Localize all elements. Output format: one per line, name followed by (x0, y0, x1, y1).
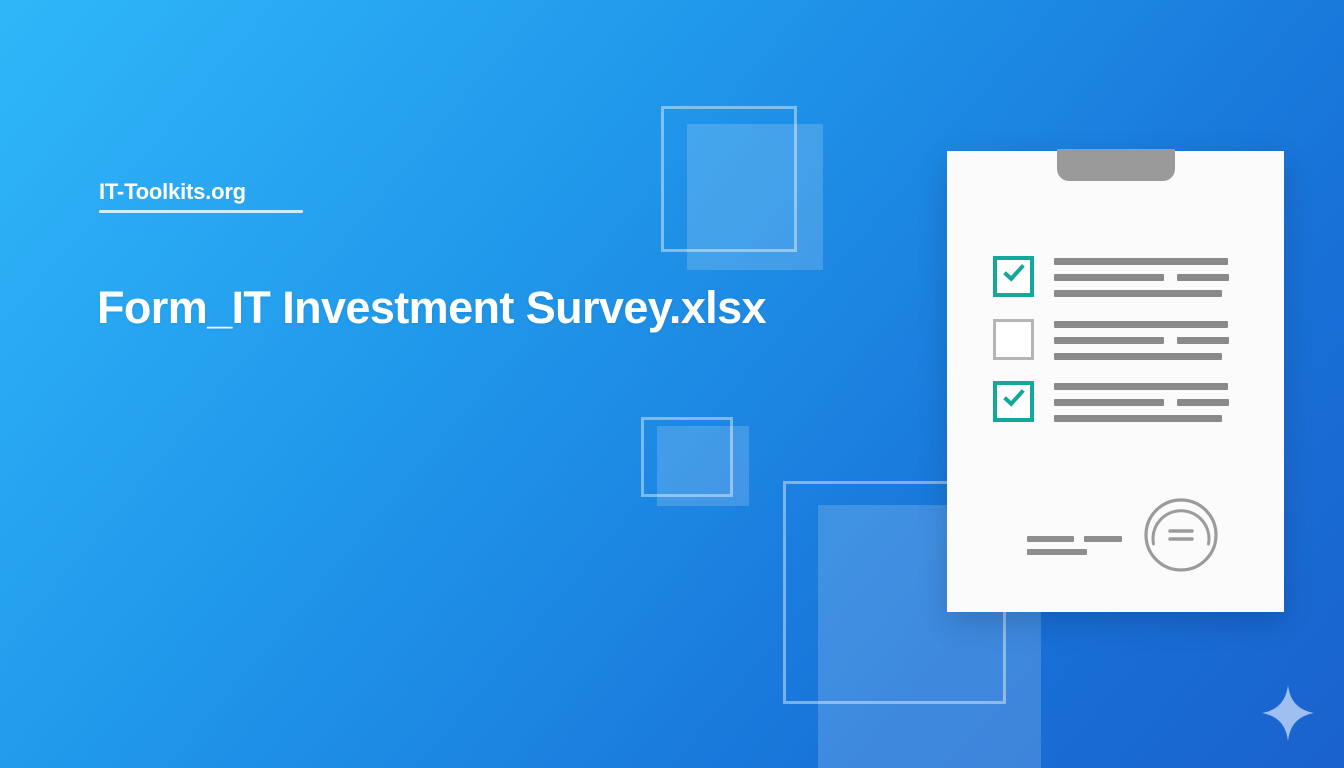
signature-mark (1027, 536, 1122, 555)
signature-stroke (1027, 549, 1087, 555)
check-mark-icon (1003, 384, 1025, 406)
signature-stroke (1027, 536, 1074, 542)
text-line (1177, 337, 1229, 344)
signature-top-strokes (1027, 536, 1122, 542)
text-line (1177, 274, 1229, 281)
text-line (1177, 399, 1229, 406)
text-line (1054, 290, 1222, 297)
hero-banner: IT-Toolkits.org Form_IT Investment Surve… (0, 0, 1344, 768)
text-line (1054, 321, 1228, 328)
text-line (1054, 399, 1164, 406)
text-line (1054, 258, 1228, 265)
text-line-split (1054, 399, 1239, 415)
signature-stroke (1084, 536, 1122, 542)
check-mark-icon (1003, 259, 1025, 281)
brand-name: IT-Toolkits.org (99, 178, 303, 206)
form-row (993, 256, 1243, 302)
deco-square-middle-fill (657, 426, 749, 506)
text-line-split (1054, 274, 1239, 290)
page-title: Form_IT Investment Survey.xlsx (97, 277, 766, 339)
checkbox-checked-icon (993, 381, 1034, 422)
text-line (1054, 274, 1164, 281)
brand-underline (99, 210, 303, 213)
checkbox-unchecked-icon (993, 319, 1034, 360)
brand-logo[interactable]: IT-Toolkits.org (99, 178, 303, 213)
form-row-text-lines (1054, 319, 1239, 369)
text-line (1054, 383, 1228, 390)
form-row (993, 319, 1243, 365)
deco-square-top-fill (687, 124, 823, 270)
clipboard-form-illustration (947, 151, 1284, 612)
form-row (993, 381, 1243, 427)
seal-stamp-icon (1142, 496, 1220, 574)
text-line (1054, 415, 1222, 422)
form-row-text-lines (1054, 381, 1239, 431)
text-line (1054, 353, 1222, 360)
text-line-split (1054, 337, 1239, 353)
checkbox-checked-icon (993, 256, 1034, 297)
clipboard-clip (1057, 149, 1175, 181)
form-row-text-lines (1054, 256, 1239, 306)
text-line (1054, 337, 1164, 344)
sparkle-icon (1262, 685, 1314, 741)
